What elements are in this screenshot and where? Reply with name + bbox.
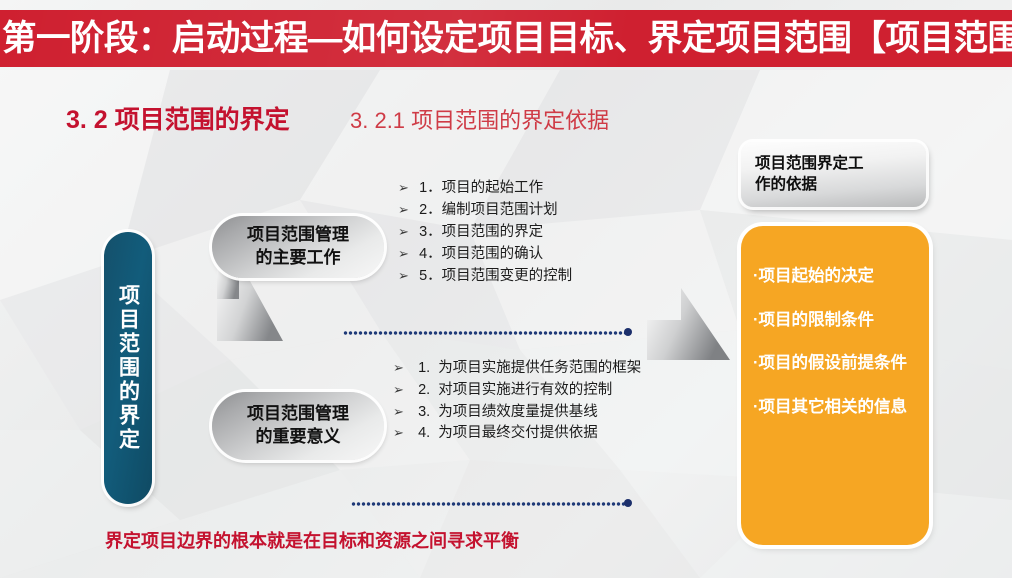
list-item: ➢ 2. 对项目实施进行有效的控制 — [393, 380, 651, 402]
panel-header-basis[interactable]: 项目范围界定工 作的依据 — [741, 142, 926, 207]
connector-dotted-upper — [343, 331, 628, 335]
list-item: ➢ 3．项目范围的界定 — [398, 221, 572, 243]
section-heading: 3. 2 项目范围的界定 — [66, 100, 290, 136]
chevron-right-icon: ➢ — [398, 244, 411, 264]
connector-endpoint-upper — [624, 328, 632, 336]
list-item-label: 5．项目范围变更的控制 — [419, 268, 572, 284]
chevron-right-icon: ➢ — [398, 266, 411, 286]
list-item: ➢ 5．项目范围变更的控制 — [398, 265, 572, 287]
list-item: ➢ 1．项目的起始工作 — [398, 177, 572, 199]
chevron-right-icon: ➢ — [398, 178, 411, 198]
section-subheading: 3. 2.1 项目范围的界定依据 — [350, 103, 609, 135]
panel-item: ·项目起始的决定 — [747, 268, 929, 285]
panel-item: ·项目其它相关的信息 — [747, 399, 929, 416]
chevron-right-icon: ➢ — [398, 222, 411, 242]
panel-basis-items: ·项目起始的决定 ·项目的限制条件 ·项目的假设前提条件 ·项目其它相关的信息 — [741, 226, 929, 545]
list-item-label: 2．编制项目范围计划 — [419, 202, 558, 218]
pill-main-work-label: 项目范围管理 的主要工作 — [247, 224, 349, 270]
chevron-right-icon: ➢ — [393, 402, 406, 422]
list-item: ➢ 2．编制项目范围计划 — [398, 199, 572, 221]
list-item-label: 2. 对项目实施进行有效的控制 — [418, 382, 612, 398]
vertical-tab-label: 项目范围的界定 — [118, 284, 139, 452]
banner-title: 第一阶段：启动过程—如何设定项目目标、界定项目范围【项目范围管理】 — [0, 21, 1012, 56]
chevron-right-icon: ➢ — [398, 200, 411, 220]
list-item-label: 4. 为项目最终交付提供依据 — [418, 425, 598, 441]
list-item: ➢ 1. 为项目实施提供任务范围的框架 — [393, 358, 651, 380]
list-significance: ➢ 1. 为项目实施提供任务范围的框架 ➢ 2. 对项目实施进行有效的控制 ➢ … — [393, 358, 651, 445]
pill-significance[interactable]: 项目范围管理 的重要意义 — [212, 392, 384, 460]
list-item-label: 3. 为项目绩效度量提供基线 — [418, 404, 598, 420]
chevron-right-icon: ➢ — [393, 423, 406, 443]
connector-dotted-lower — [351, 502, 628, 506]
list-item-label: 3．项目范围的界定 — [419, 224, 543, 240]
panel-header-label: 项目范围界定工 作的依据 — [755, 154, 864, 196]
list-item-label: 1. 为项目实施提供任务范围的框架 — [418, 360, 641, 376]
connector-endpoint-lower — [624, 499, 632, 507]
slide-canvas: 第一阶段：启动过程—如何设定项目目标、界定项目范围【项目范围管理】 3. 2 项… — [0, 0, 1012, 578]
title-banner: 第一阶段：启动过程—如何设定项目目标、界定项目范围【项目范围管理】 — [0, 10, 1012, 67]
panel-item: ·项目的假设前提条件 — [747, 355, 929, 372]
list-item: ➢ 3. 为项目绩效度量提供基线 — [393, 402, 651, 424]
list-main-work: ➢ 1．项目的起始工作 ➢ 2．编制项目范围计划 ➢ 3．项目范围的界定 ➢ 4… — [398, 177, 572, 287]
list-item-label: 1．项目的起始工作 — [419, 180, 543, 196]
list-item-label: 4．项目范围的确认 — [419, 246, 543, 262]
vertical-tab-scope-definition[interactable]: 项目范围的界定 — [104, 232, 152, 504]
list-item: ➢ 4．项目范围的确认 — [398, 243, 572, 265]
panel-item: ·项目的限制条件 — [747, 312, 929, 329]
chevron-right-icon: ➢ — [393, 358, 406, 378]
pill-significance-label: 项目范围管理 的重要意义 — [247, 403, 349, 449]
chevron-right-icon: ➢ — [393, 380, 406, 400]
pill-main-work[interactable]: 项目范围管理 的主要工作 — [212, 216, 384, 278]
footer-note: 界定项目边界的根本就是在目标和资源之间寻求平衡 — [105, 527, 519, 553]
list-item: ➢ 4. 为项目最终交付提供依据 — [393, 423, 651, 445]
